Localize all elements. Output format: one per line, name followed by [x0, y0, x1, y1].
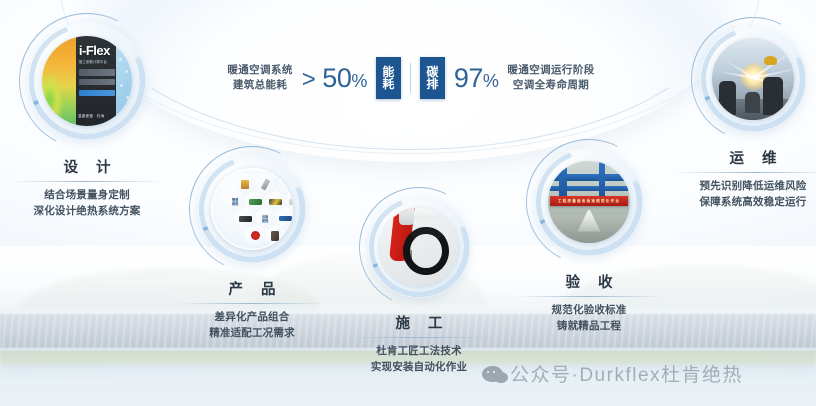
operations-label: 运 维 预先识别降低运维风险 保障系统高效稳定运行	[674, 147, 816, 211]
hex-cell	[235, 173, 255, 196]
watermark: 公众号·Durkflex杜肯绝热	[482, 360, 743, 387]
badge-carbon-emission: 碳 排	[420, 57, 445, 99]
operations-title: 运 维	[674, 147, 816, 168]
watermark-text: 公众号·Durkflex杜肯绝热	[510, 360, 743, 387]
acceptance-label: 验 收 规范化验收标准 铸就精品工程	[516, 271, 662, 335]
ring-accent-arc-light	[521, 134, 657, 270]
product-sub-line1: 差异化产品组合	[179, 309, 325, 325]
carbon-caption-line2: 空调全寿命周期	[507, 78, 594, 93]
thermal-map-visual	[42, 36, 76, 126]
label-rule	[516, 296, 662, 297]
iflex-logo: i-Flex	[79, 43, 110, 58]
product-label: 产 品 差异化产品组合 精准适配工况需求	[179, 278, 325, 342]
software-panel	[76, 36, 116, 126]
design-photo: i-Flex 施工参数计算平台 温度差值 杜肯	[42, 36, 132, 126]
light-ray	[717, 70, 753, 78]
iflex-field-1[interactable]	[79, 69, 115, 75]
carbon-value-unit: %	[483, 71, 499, 91]
blue-duct-horizontal	[548, 186, 630, 191]
machine-red-arm	[389, 208, 415, 261]
node-design[interactable]: i-Flex 施工参数计算平台 温度差值 杜肯 设 计 结合场景量身定制 深化设…	[28, 22, 163, 220]
machine-head	[399, 208, 415, 225]
product-sub-line2: 精准适配工况需求	[179, 325, 325, 341]
statistics-banner: 暖通空调系统 建筑总能耗 > 50% 能 耗 碳 排 97% 暖通空调运行阶段 …	[196, 50, 626, 106]
design-ring: i-Flex 施工参数计算平台 温度差值 杜肯	[28, 22, 146, 140]
cutting-machine-scene	[380, 208, 458, 286]
design-sub-line2: 深化设计绝热系统方案	[11, 203, 163, 219]
operations-sub-line1: 预先识别降低运维风险	[674, 178, 816, 194]
infographic-canvas: 暖通空调系统 建筑总能耗 > 50% 能 耗 碳 排 97% 暖通空调运行阶段 …	[0, 0, 816, 406]
product-photo: 管道绝热 设备绝热	[211, 168, 293, 250]
energy-stat-caption: 暖通空调系统 建筑总能耗	[227, 63, 292, 93]
iflex-footer: 温度差值 杜肯	[78, 114, 105, 119]
software-side-panel	[116, 36, 132, 126]
label-rule	[179, 303, 325, 304]
ring-accent-arc-light	[686, 12, 816, 145]
label-rule	[346, 337, 492, 338]
red-banner-text: 工程质量验收标准规范化作业	[550, 196, 629, 206]
iflex-software-screen: i-Flex 施工参数计算平台 温度差值 杜肯	[42, 36, 132, 126]
sun-flare	[740, 63, 768, 91]
acceptance-title: 验 收	[516, 271, 662, 292]
energy-stat-value: > 50%	[302, 63, 367, 94]
carbon-caption-line1: 暖通空调运行阶段	[507, 63, 594, 78]
energy-value-unit: %	[351, 71, 367, 91]
ring-accent-arc	[519, 132, 659, 272]
label-rule	[11, 181, 163, 182]
hex-cell	[245, 190, 265, 213]
construction-title: 施 工	[346, 312, 492, 333]
scene-floor	[548, 215, 630, 243]
hex-label-pipe: 管道绝热	[232, 198, 238, 206]
node-acceptance[interactable]: 工程质量验收标准规范化作业 验 收 规范化验收标准 铸就精品工程	[535, 148, 662, 335]
hex-label-equipment: 设备绝热	[262, 215, 268, 223]
node-operations[interactable]: 运 维 预先识别降低运维风险 保障系统高效稳定运行	[700, 26, 816, 211]
acceptance-sub-line2: 铸就精品工程	[516, 318, 662, 334]
badge-divider	[410, 63, 411, 93]
light-ray	[753, 77, 790, 88]
hex-cell	[265, 224, 285, 247]
ring-accent-arc	[182, 139, 322, 279]
node-construction[interactable]: 施 工 杜肯工匠工法技术 实现安装自动化作业	[368, 196, 492, 376]
scene-ground	[712, 99, 794, 120]
design-title: 设 计	[11, 156, 163, 177]
hex-cell	[285, 190, 293, 213]
carbon-value-number: 97	[454, 63, 483, 93]
energy-value-number: 50	[322, 63, 351, 93]
hex-cell	[275, 207, 293, 230]
hard-hat-icon	[764, 56, 776, 65]
ring-accent-arc	[353, 181, 485, 313]
iflex-field-2[interactable]	[79, 79, 115, 85]
construction-sub-line1: 杜肯工匠工法技术	[346, 343, 492, 359]
hex-cell	[265, 190, 285, 213]
hex-cell	[245, 224, 265, 247]
inspection-scene: 工程质量验收标准规范化作业	[548, 161, 630, 243]
iflex-tagline: 施工参数计算平台	[79, 60, 107, 65]
design-sub-line1: 结合场景量身定制	[11, 187, 163, 203]
worker-silhouette	[719, 81, 735, 115]
worker-silhouette	[763, 77, 783, 115]
acceptance-sub-line1: 规范化验收标准	[516, 302, 662, 318]
hex-cell	[235, 207, 255, 230]
blue-duct-vertical	[599, 161, 605, 199]
construction-ring	[368, 196, 470, 298]
light-cone	[578, 210, 601, 231]
greater-than-symbol: >	[302, 66, 316, 93]
light-ray	[753, 67, 794, 78]
maintenance-scene	[712, 38, 794, 120]
node-product[interactable]: 管道绝热 设备绝热 产 品 差异化产品组合 精准适配工况需求	[198, 155, 325, 342]
operations-ring	[700, 26, 806, 132]
blue-duct-horizontal	[548, 174, 630, 181]
badge-energy-consumption: 能 耗	[376, 57, 401, 99]
hex-cell-label: 设备绝热	[255, 207, 275, 230]
hex-cell	[255, 173, 275, 196]
carbon-stat-caption: 暖通空调运行阶段 空调全寿命周期	[507, 63, 594, 93]
design-label: 设 计 结合场景量身定制 深化设计绝热系统方案	[11, 156, 163, 220]
ring-accent-arc	[10, 4, 163, 157]
acceptance-ring: 工程质量验收标准规范化作业	[535, 148, 643, 256]
machine-nozzle	[405, 250, 412, 261]
label-rule	[674, 172, 816, 173]
light-ray	[753, 50, 793, 78]
operations-photo	[712, 38, 794, 120]
cutting-spark	[404, 258, 410, 262]
wechat-icon	[482, 366, 503, 382]
ring-accent-arc-light	[184, 141, 320, 277]
construction-photo	[380, 208, 458, 286]
equipment-silhouette	[745, 92, 760, 113]
construction-sub-line2: 实现安装自动化作业	[346, 359, 492, 375]
ring-accent-arc-light	[355, 183, 483, 311]
light-ray	[725, 59, 754, 78]
operations-sub-line2: 保障系统高效稳定运行	[674, 194, 816, 210]
ring-accent-arc	[684, 10, 816, 147]
blue-duct-vertical	[559, 161, 566, 199]
energy-caption-line2: 建筑总能耗	[227, 78, 292, 93]
red-site-banner: 工程质量验收标准规范化作业	[550, 196, 629, 206]
energy-caption-line1: 暖通空调系统	[227, 63, 292, 78]
carbon-stat-value: 97%	[454, 63, 499, 94]
product-honeycomb: 管道绝热 设备绝热	[219, 176, 285, 242]
black-insulation-hose	[403, 227, 448, 275]
product-title: 产 品	[179, 278, 325, 299]
construction-label: 施 工 杜肯工匠工法技术 实现安装自动化作业	[346, 312, 492, 376]
acceptance-photo: 工程质量验收标准规范化作业	[548, 161, 630, 243]
hex-cell-label: 管道绝热	[225, 190, 245, 213]
machine-rail	[408, 208, 456, 219]
product-ring: 管道绝热 设备绝热	[198, 155, 306, 263]
iflex-calculate-button[interactable]	[79, 90, 115, 96]
ring-accent-arc-light	[13, 7, 162, 156]
